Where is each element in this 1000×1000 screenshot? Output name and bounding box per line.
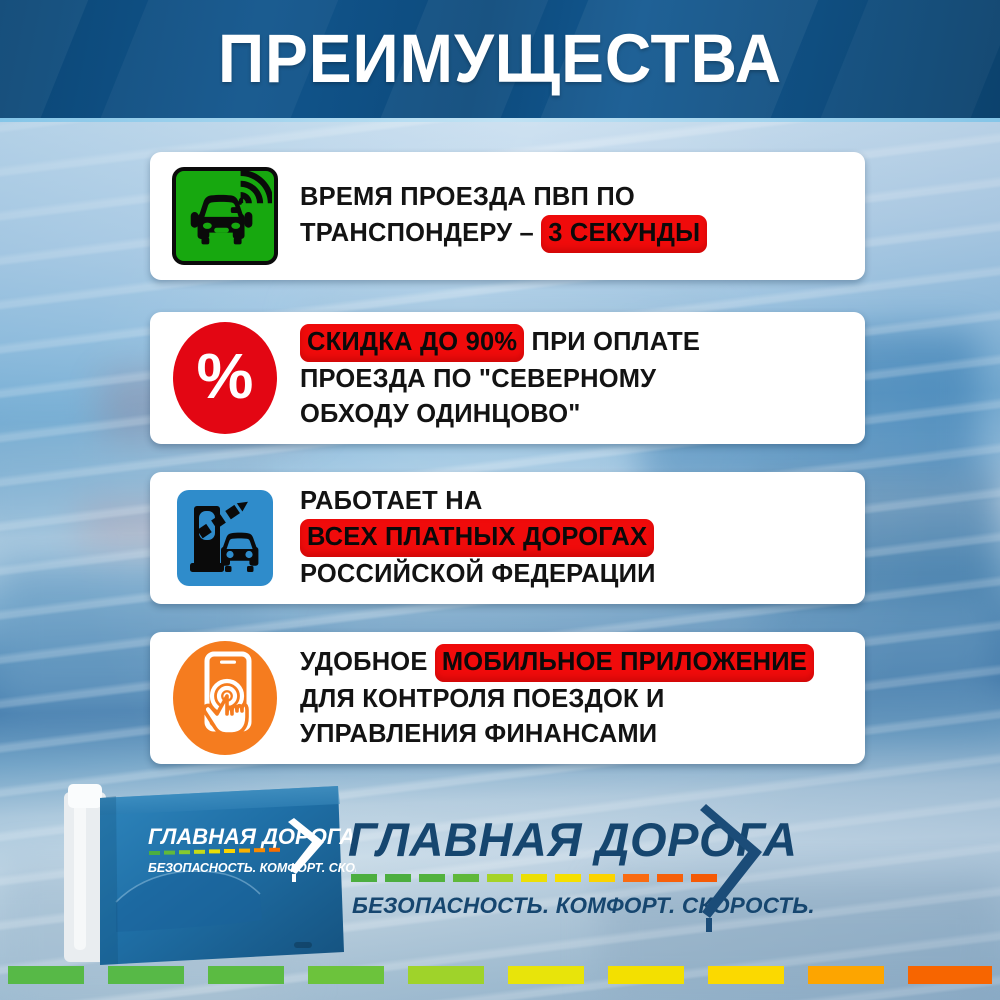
card-text-line: ДЛЯ КОНТРОЛЯ ПОЕЗДОК И xyxy=(300,682,851,717)
plain-text: ВРЕМЯ ПРОЕЗДА ПВП ПО xyxy=(300,183,635,211)
percent-discount-icon: % xyxy=(173,322,277,434)
percent-glyph: % xyxy=(197,344,254,408)
plain-text: УПРАВЛЕНИЯ ФИНАНСАМИ xyxy=(300,720,657,748)
card-text-line: РАБОТАЕТ НА xyxy=(300,484,851,519)
card-icon-slot xyxy=(150,632,300,764)
card-text-line: ВСЕХ ПЛАТНЫХ ДОРОГАХ xyxy=(300,519,851,557)
page-title: ПРЕИМУЩЕСТВА xyxy=(35,16,965,102)
card-text-line: РОССИЙСКОЙ ФЕДЕРАЦИИ xyxy=(300,557,851,592)
plain-text: РОССИЙСКОЙ ФЕДЕРАЦИИ xyxy=(300,560,656,588)
header-underline xyxy=(0,118,1000,122)
device-logo-name: ГЛАВНАЯ ДОРОГА xyxy=(148,824,355,849)
highlighted-text: ВСЕХ ПЛАТНЫХ ДОРОГАХ xyxy=(300,519,654,557)
highlighted-text: 3 СЕКУНДЫ xyxy=(541,215,707,253)
road-marking-strip xyxy=(0,962,1000,988)
card-text: РАБОТАЕТ НАВСЕХ ПЛАТНЫХ ДОРОГАХРОССИЙСКО… xyxy=(300,484,865,592)
plain-text: ТРАНСПОНДЕРУ – xyxy=(300,219,541,247)
plain-text: ПРОЕЗДА ПО "СЕВЕРНОМУ xyxy=(300,365,656,393)
card-text-line: ОБХОДУ ОДИНЦОВО" xyxy=(300,397,851,432)
plain-text: УДОБНОЕ xyxy=(300,648,435,676)
header-banner: ПРЕИМУЩЕСТВА xyxy=(0,0,1000,118)
logo-dash-line xyxy=(351,874,731,882)
card-icon-slot xyxy=(150,472,300,604)
highlighted-text: СКИДКА ДО 90% xyxy=(300,324,524,362)
chevron-right-icon xyxy=(700,796,790,936)
benefit-card: УДОБНОЕ МОБИЛЬНОЕ ПРИЛОЖЕНИЕДЛЯ КОНТРОЛЯ… xyxy=(150,632,865,764)
mobile-app-tap-icon xyxy=(173,641,277,755)
brand-logo: ГЛАВНАЯ ДОРОГА БЕЗОПАСНОСТЬ. КОМФОРТ. СК… xyxy=(348,812,768,932)
card-text: СКИДКА ДО 90% ПРИ ОПЛАТЕПРОЕЗДА ПО "СЕВЕ… xyxy=(300,324,865,432)
benefit-card: РАБОТАЕТ НАВСЕХ ПЛАТНЫХ ДОРОГАХРОССИЙСКО… xyxy=(150,472,865,604)
infographic-poster: ПРЕИМУЩЕСТВА xyxy=(0,0,1000,1000)
card-text: УДОБНОЕ МОБИЛЬНОЕ ПРИЛОЖЕНИЕДЛЯ КОНТРОЛЯ… xyxy=(300,644,865,752)
car-transponder-icon xyxy=(172,167,278,265)
card-text-line: ВРЕМЯ ПРОЕЗДА ПВП ПО xyxy=(300,180,851,215)
logo-name: ГЛАВНАЯ ДОРОГА xyxy=(348,812,743,868)
card-text-line: ПРОЕЗДА ПО "СЕВЕРНОМУ xyxy=(300,362,851,397)
highlighted-text: МОБИЛЬНОЕ ПРИЛОЖЕНИЕ xyxy=(435,644,814,682)
benefit-card: % СКИДКА ДО 90% ПРИ ОПЛАТЕПРОЕЗДА ПО "СЕ… xyxy=(150,312,865,444)
plain-text: ОБХОДУ ОДИНЦОВО" xyxy=(300,400,581,428)
plain-text: ПРИ ОПЛАТЕ xyxy=(524,328,700,356)
card-text: ВРЕМЯ ПРОЕЗДА ПВП ПОТРАНСПОНДЕРУ – 3 СЕК… xyxy=(300,180,865,253)
card-text-line: СКИДКА ДО 90% ПРИ ОПЛАТЕ xyxy=(300,324,851,362)
card-text-line: УПРАВЛЕНИЯ ФИНАНСАМИ xyxy=(300,717,851,752)
card-icon-slot xyxy=(150,152,300,280)
plain-text: ДЛЯ КОНТРОЛЯ ПОЕЗДОК И xyxy=(300,685,665,713)
card-icon-slot: % xyxy=(150,312,300,444)
toll-barrier-car-icon xyxy=(177,490,273,586)
card-text-line: ТРАНСПОНДЕРУ – 3 СЕКУНДЫ xyxy=(300,215,851,253)
card-text-line: УДОБНОЕ МОБИЛЬНОЕ ПРИЛОЖЕНИЕ xyxy=(300,644,851,682)
plain-text: РАБОТАЕТ НА xyxy=(300,487,482,515)
benefit-card: ВРЕМЯ ПРОЕЗДА ПВП ПОТРАНСПОНДЕРУ – 3 СЕК… xyxy=(150,152,865,280)
transponder-device: ГЛАВНАЯ ДОРОГА БЕЗОПАСНОСТЬ. КОМФОРТ. СК… xyxy=(56,782,356,977)
device-logo-tagline: БЕЗОПАСНОСТЬ. КОМФОРТ. СКОРОСТЬ. xyxy=(148,861,356,875)
